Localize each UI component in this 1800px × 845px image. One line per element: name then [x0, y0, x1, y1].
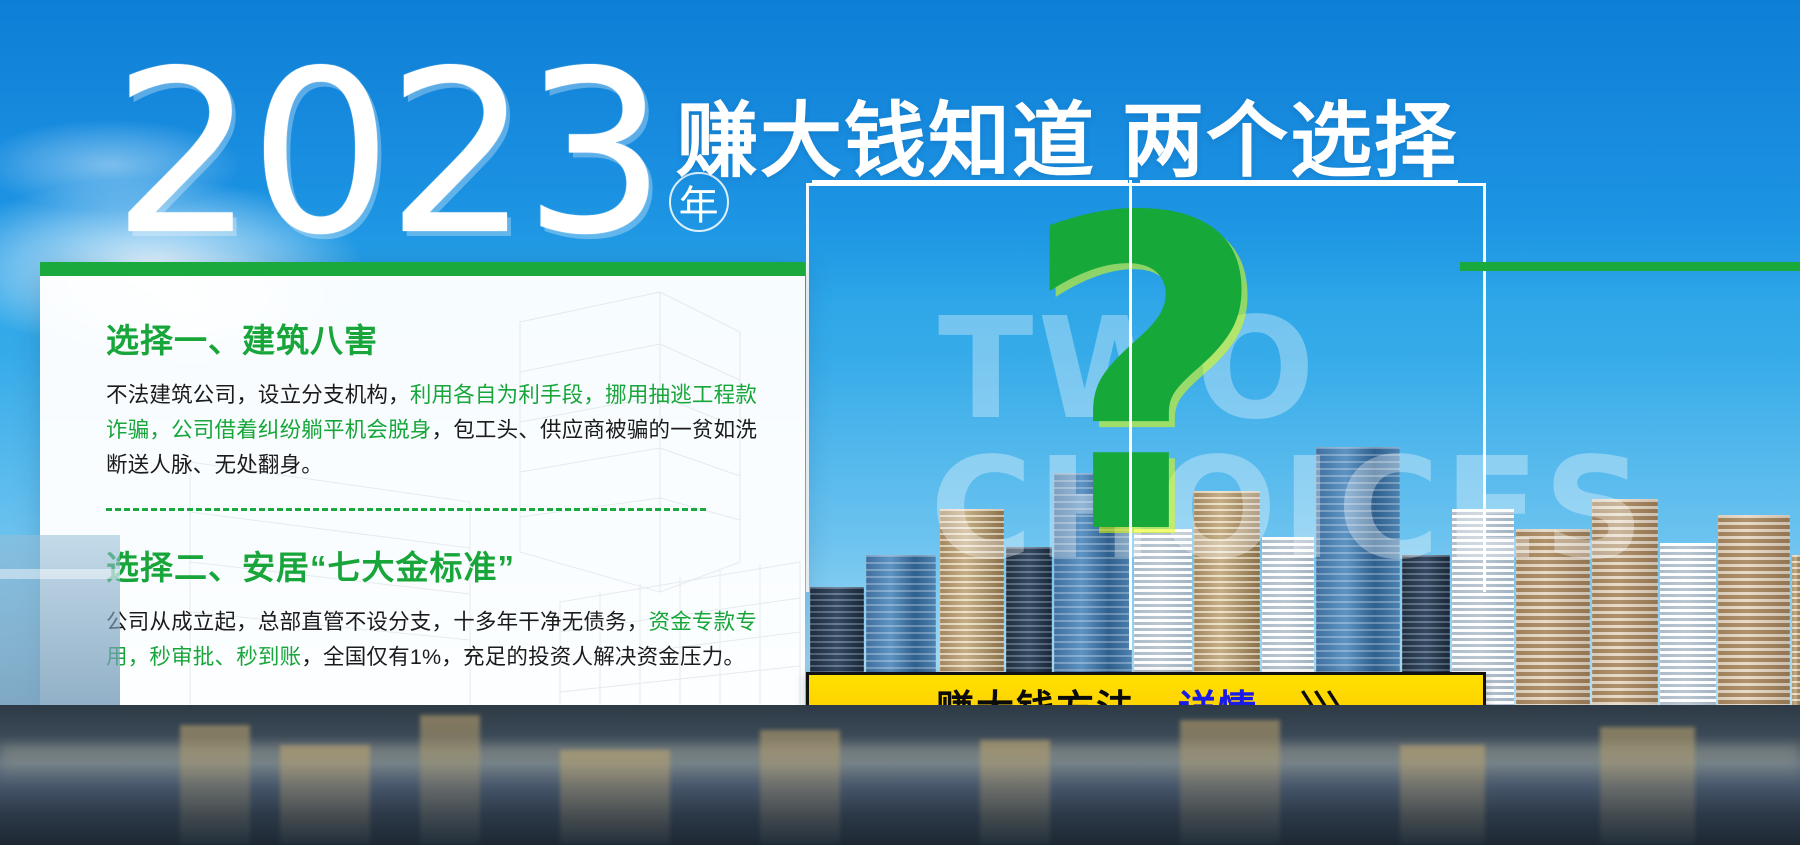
headline-underline-right — [1140, 180, 1458, 185]
section-divider — [106, 508, 706, 511]
green-accent-bar — [1460, 262, 1800, 271]
headline-underline-left — [812, 180, 1128, 185]
city-skyline-photo — [800, 405, 1800, 705]
section-body: 不法建筑公司，设立分支机构，利用各自为利手段，挪用抽逃工程款诈骗，公司借着纠纷躺… — [106, 378, 769, 482]
section-title: 选择二、安居“七大金标准” — [106, 541, 769, 589]
section-title: 选择一、建筑八害 — [106, 314, 769, 362]
vertical-divider — [1129, 180, 1132, 650]
card-section-1: 选择一、建筑八害 不法建筑公司，设立分支机构，利用各自为利手段，挪用抽逃工程款诈… — [106, 314, 769, 482]
headline-part-1: 赚大钱知道 — [676, 96, 1096, 187]
body-text: 不法建筑公司，设立分支机构， — [106, 383, 410, 407]
section-body: 公司从成立起，总部直管不设分支，十多年干净无债务，资金专款专用，秒审批、秒到账，… — [106, 605, 769, 675]
body-text: ，全国仅有1%，充足的投资人解决资金压力。 — [301, 645, 745, 669]
page-title: 赚大钱知道两个选择 — [676, 74, 1458, 193]
bottom-photo-strip — [0, 705, 1800, 845]
bridge-decoration — [0, 535, 120, 705]
body-text: 公司从成立起，总部直管不设分支，十多年干净无债务， — [106, 610, 649, 634]
headline-part-2: 两个选择 — [1122, 96, 1458, 187]
content-card: 选择一、建筑八害 不法建筑公司，设立分支机构，利用各自为利手段，挪用抽逃工程款诈… — [40, 262, 805, 716]
card-section-2: 选择二、安居“七大金标准” 公司从成立起，总部直管不设分支，十多年干净无债务，资… — [106, 541, 769, 675]
promo-banner: TWO CHOICES ? 2023 年 赚大钱知道两个选择 — [0, 0, 1800, 845]
